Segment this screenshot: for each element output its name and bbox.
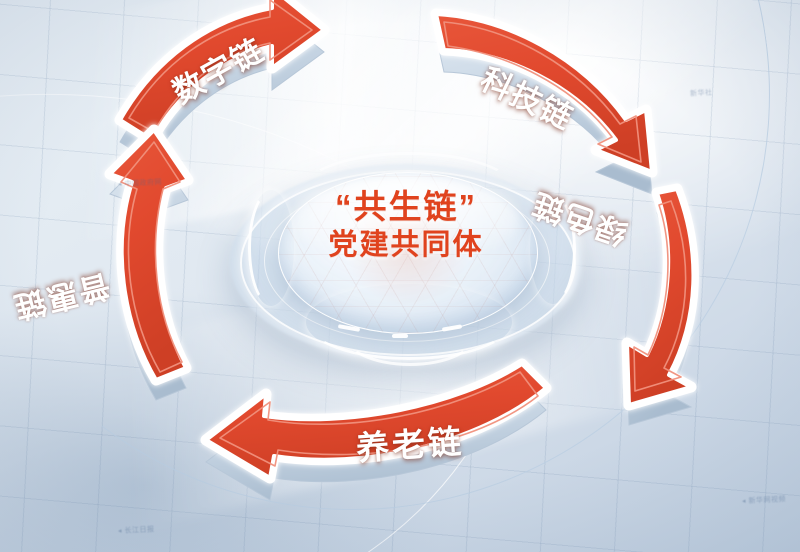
arrow-elderly-label: 养老链 [354,415,465,470]
infographic-canvas: “共生链” 党建共同体 [0,0,800,552]
watermark-bottom-left: ◂ 长江日报 [118,524,155,536]
center-title-secondary: 党建共同体 [246,229,566,263]
watermark-top-right: 新华社 [690,87,713,98]
arrow-inclusive[interactable]: 普惠链 [36,160,246,410]
hub-tick-center [392,334,408,338]
arrow-inclusive-body [110,130,188,380]
arrow-green[interactable]: 绿色链 [565,185,755,435]
hub-arc-bottom-inner [342,300,478,366]
